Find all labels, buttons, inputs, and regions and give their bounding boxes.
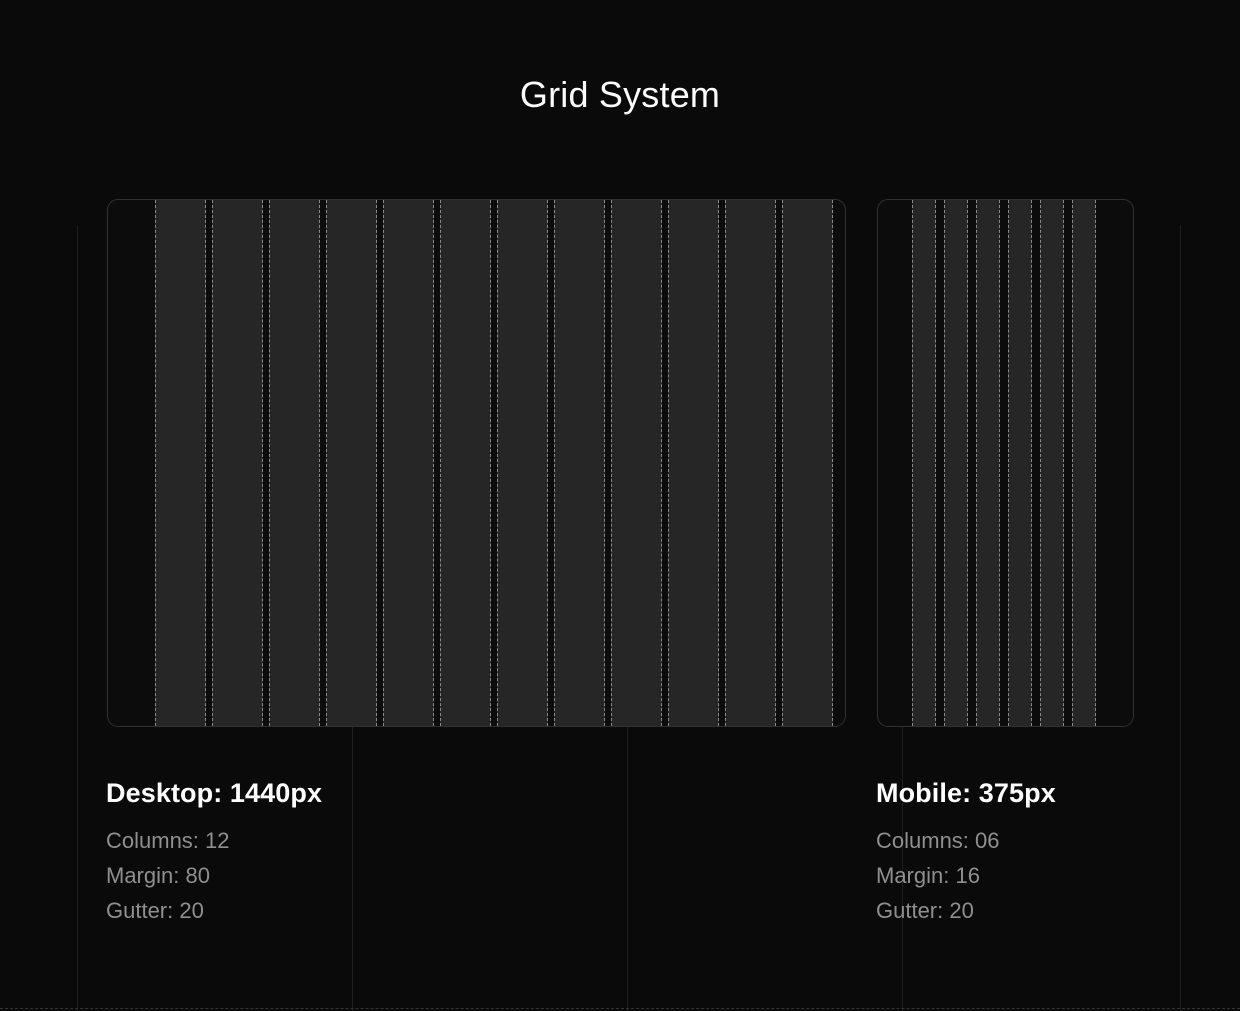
grid-columns-mobile <box>878 200 1133 726</box>
grid-column-desktop-5 <box>383 200 434 726</box>
breakpoint-title-mobile: Mobile: 375px <box>876 778 1056 809</box>
grid-system-page: Grid System Desktop: 1440px Columns: 12 … <box>0 0 1240 1011</box>
grid-preview-panel-mobile <box>877 199 1134 727</box>
grid-column-desktop-11 <box>725 200 776 726</box>
grid-gutter-mobile-1 <box>936 200 944 726</box>
spec-gutter-mobile: Gutter: 20 <box>876 893 1056 928</box>
grid-column-desktop-2 <box>212 200 263 726</box>
page-title: Grid System <box>0 74 1240 116</box>
grid-column-desktop-9 <box>611 200 662 726</box>
grid-gutter-mobile-4 <box>1032 200 1040 726</box>
background-vertical-line-4 <box>1180 225 1181 1011</box>
spec-gutter-desktop: Gutter: 20 <box>106 893 322 928</box>
background-bottom-dashed-rule <box>0 1008 1240 1009</box>
grid-column-desktop-4 <box>326 200 377 726</box>
grid-column-desktop-1 <box>155 200 206 726</box>
grid-column-desktop-12 <box>782 200 833 726</box>
grid-gutter-mobile-3 <box>1000 200 1008 726</box>
grid-margin-right-mobile <box>1096 200 1130 726</box>
grid-margin-left-desktop <box>108 200 155 726</box>
grid-column-desktop-8 <box>554 200 605 726</box>
grid-column-mobile-4 <box>1008 200 1032 726</box>
grid-column-mobile-5 <box>1040 200 1064 726</box>
grid-caption-mobile: Mobile: 375px Columns: 06 Margin: 16 Gut… <box>876 778 1056 928</box>
breakpoint-title-desktop: Desktop: 1440px <box>106 778 322 809</box>
grid-margin-right-desktop <box>833 200 846 726</box>
grid-preview-panel-desktop <box>107 199 846 727</box>
grid-column-desktop-7 <box>497 200 548 726</box>
spec-columns-desktop: Columns: 12 <box>106 823 322 858</box>
background-vertical-line-0 <box>77 225 78 1011</box>
spec-columns-mobile: Columns: 06 <box>876 823 1056 858</box>
grid-caption-desktop: Desktop: 1440px Columns: 12 Margin: 80 G… <box>106 778 322 928</box>
grid-column-desktop-6 <box>440 200 491 726</box>
grid-gutter-mobile-5 <box>1064 200 1072 726</box>
grid-margin-left-mobile <box>878 200 912 726</box>
grid-gutter-mobile-2 <box>968 200 976 726</box>
grid-column-desktop-3 <box>269 200 320 726</box>
grid-column-mobile-3 <box>976 200 1000 726</box>
spec-margin-desktop: Margin: 80 <box>106 858 322 893</box>
grid-columns-desktop <box>108 200 845 726</box>
spec-margin-mobile: Margin: 16 <box>876 858 1056 893</box>
grid-column-mobile-1 <box>912 200 936 726</box>
grid-column-desktop-10 <box>668 200 719 726</box>
grid-column-mobile-6 <box>1072 200 1096 726</box>
grid-column-mobile-2 <box>944 200 968 726</box>
